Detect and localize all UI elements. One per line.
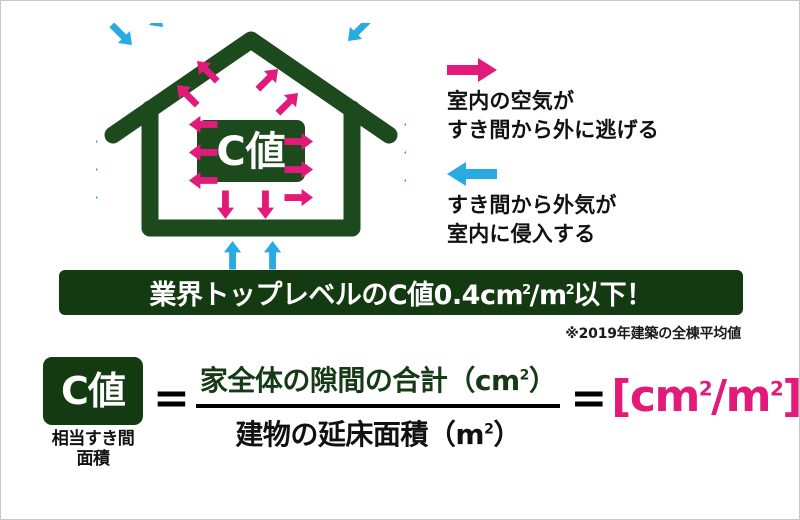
legend-inward-line-2: 室内に侵入する [447,220,617,249]
legend-outward-airflow: 室内の空気が すき間から外に逃げる [447,57,659,145]
headline-banner: 業界トップレベルのC値0.4cm2/m2以下！ [59,270,743,315]
infographic-page: C値 [0,0,800,520]
footnote-text: ※2019年建築の全棟平均値 [565,323,741,343]
unit-open-bracket: [cm [611,371,699,422]
equals-sign-1: = [153,377,190,421]
airtightness-house-diagram: C値 [96,23,406,273]
banner-suffix: 以下！ [573,280,653,311]
numerator-prefix: 家全体の隙間の合計（cm [200,364,520,397]
legend-outward-text: 室内の空気が すき間から外に逃げる [447,87,659,145]
legend-outward-line-2: すき間から外に逃げる [447,116,659,145]
cvalue-caption: 相当すき間 面積 [52,430,135,469]
denominator-sup: 2 [484,422,493,438]
formula-numerator: 家全体の隙間の合計（cm2） [196,359,561,401]
unit-sup-1: 2 [699,377,711,400]
cvalue-definition-block: C値 相当すき間 面積 [37,357,149,469]
unit-middle: /m [711,371,770,422]
formula-fraction: 家全体の隙間の合計（cm2） 建物の延床面積（m2） [196,359,561,453]
arrow-right-icon [447,58,497,82]
cvalue-caption-line-1: 相当すき間 [52,430,135,450]
arrow-left-icon [447,162,497,186]
equals-sign-2: = [570,377,607,421]
headline-banner-text: 業界トップレベルのC値0.4cm2/m2以下！ [149,273,652,312]
fraction-bar [196,404,561,408]
legend-inward-text: すき間から外気が 室内に侵入する [447,191,617,249]
legend-inward-arrow-row [447,161,617,187]
legend-outward-arrow-row [447,57,659,83]
formula-unit-result: [cm2/m2] [611,375,800,419]
house-cvalue-badge-label: C値 [216,129,285,175]
cvalue-caption-line-2: 面積 [52,450,135,470]
unit-close-bracket: ] [782,371,800,422]
legend-inward-line-1: すき間から外気が [447,191,617,220]
legend-inward-airflow: すき間から外気が 室内に侵入する [447,161,617,249]
denominator-prefix: 建物の延床面積（m [235,418,484,451]
unit-sup-2: 2 [770,377,782,400]
numerator-suffix: ） [529,364,557,397]
legend-outward-line-1: 室内の空気が [447,87,659,116]
banner-middle: /m [530,280,567,311]
numerator-sup: 2 [520,368,529,384]
cvalue-badge: C値 [43,357,143,425]
denominator-suffix: ） [493,418,521,451]
formula-denominator: 建物の延床面積（m2） [231,411,524,453]
banner-prefix: 業界トップレベルのC値0.4cm [149,280,523,311]
cvalue-formula: C値 相当すき間 面積 = 家全体の隙間の合計（cm2） 建物の延床面積（m2）… [37,357,777,482]
cvalue-badge-label: C値 [61,372,125,410]
